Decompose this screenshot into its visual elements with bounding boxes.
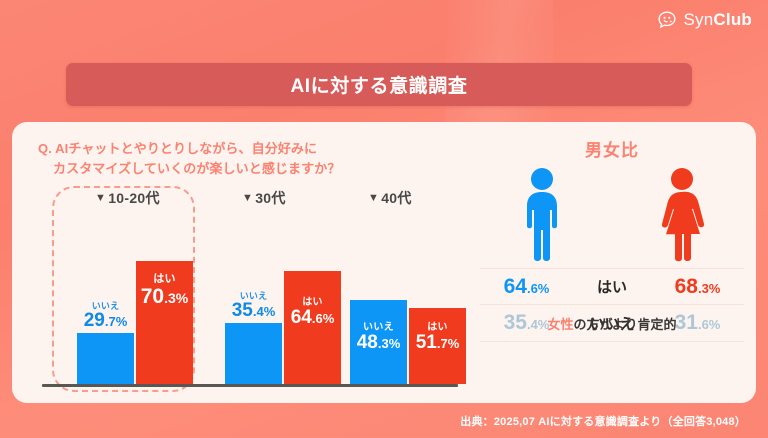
survey-chart-panel: Q. AIチャットとやりとりしながら、自分好みに カスタマイズしていくのが楽しい… (12, 122, 468, 403)
value-dec: .3% (698, 281, 720, 296)
gender-conclusion: 女性の方がより肯定的 (468, 314, 756, 333)
bar-value-dec: .3% (164, 290, 188, 306)
value-int: 68 (675, 275, 698, 298)
gender-section-title: 男女比 (468, 136, 756, 161)
logo-text-light: Syn (684, 10, 714, 29)
synclub-logo[interactable]: SynClub (657, 10, 752, 30)
bar-yes-10-20[interactable]: はい 70.3% (136, 261, 193, 384)
bar-value-yes: 51.7% (416, 333, 460, 354)
bar-value-int: 70 (141, 285, 164, 308)
bar-value-dec: .6% (312, 311, 334, 326)
question-line-2: カスタマイズしていくのが楽しいと感じますか？ (38, 159, 458, 179)
gender-row-label-yes: はい (573, 276, 651, 297)
bar-value-dec: .7% (437, 336, 459, 351)
bar-value-int: 29 (84, 310, 105, 331)
question-line-1: Q. AIチャットとやりとりしながら、自分好みに (38, 141, 317, 156)
gender-figures (468, 166, 756, 262)
group-label-30: ▼30代 (242, 188, 286, 208)
footer: 出典：2025,07 AIに対する意識調査より（全回答3,048） (0, 403, 768, 438)
content-card: Q. AIチャットとやりとりしながら、自分好みに カスタマイズしていくのが楽しい… (12, 122, 756, 403)
caret-down-icon: ▼ (242, 192, 253, 204)
bar-value-int: 35 (232, 300, 253, 321)
conclusion-highlight: 女性 (547, 317, 573, 332)
conclusion-rest: の方がより肯定的 (573, 317, 676, 332)
gender-ratio-panel: 男女比 64.6% はい 68.3% 35. (468, 122, 756, 403)
question-text: Q. AIチャットとやりとりしながら、自分好みに カスタマイズしていくのが楽しい… (38, 139, 458, 179)
bar-label-yes-10-20: はい 70.3% (141, 273, 188, 308)
value-int: 64 (504, 275, 527, 298)
bar-yes-40[interactable]: はい 51.7% (409, 308, 466, 384)
chart-baseline-axis (42, 384, 458, 387)
bar-label-no-10-20: いいえ 29.7% (84, 302, 128, 333)
bar-value-yes: 64.6% (291, 308, 335, 329)
bar-value-yes: 70.3% (141, 285, 188, 308)
page-title: AIに対する意識調査 (290, 71, 467, 98)
gender-row-yes: 64.6% はい 68.3% (480, 268, 744, 305)
bar-yes-30[interactable]: はい 64.6% (284, 271, 341, 384)
bar-group-30: いいえ 35.4% はい 64.6% (225, 271, 341, 384)
bar-caption-yes: はい (141, 273, 188, 285)
bar-value-no: 29.7% (84, 311, 128, 331)
bar-label-yes-30: はい 64.6% (291, 297, 335, 329)
bar-value-int: 64 (291, 307, 312, 328)
caret-down-icon: ▼ (368, 192, 379, 204)
group-label-40: ▼40代 (368, 188, 412, 208)
logo-wordmark: SynClub (684, 10, 752, 30)
bar-value-int: 51 (416, 332, 437, 353)
bar-value-no: 35.4% (232, 301, 276, 321)
bar-label-yes-40: はい 51.7% (416, 322, 460, 354)
bar-value-dec: .7% (105, 314, 127, 329)
bar-value-dec: .4% (253, 304, 275, 319)
female-yes-value: 68.3% (651, 275, 744, 299)
bar-label-no-30: いいえ 35.4% (232, 292, 276, 323)
age-group-bar-chart: ▼10-20代 ▼30代 ▼40代 いいえ 29.7% はい 70.3% (38, 190, 458, 387)
male-yes-value: 64.6% (480, 275, 573, 299)
group-label-text: 40代 (381, 190, 411, 206)
title-banner: AIに対する意識調査 (66, 63, 692, 106)
caret-down-icon: ▼ (95, 192, 106, 204)
logo-text-bold: Club (713, 10, 752, 29)
bar-group-10-20: いいえ 29.7% はい 70.3% (77, 261, 193, 384)
male-figure-icon (514, 166, 570, 262)
group-label-text: 10-20代 (108, 190, 160, 206)
bar-value-no: 48.3% (357, 333, 401, 354)
female-figure-icon (654, 166, 710, 262)
bar-label-no-40: いいえ 48.3% (357, 322, 401, 354)
bar-group-40: いいえ 48.3% はい 51.7% (350, 300, 466, 384)
chat-face-icon (657, 10, 677, 30)
bar-value-dec: .3% (378, 336, 400, 351)
bar-no-10-20[interactable]: いいえ 29.7% (77, 333, 134, 384)
bar-no-30[interactable]: いいえ 35.4% (225, 323, 282, 384)
group-label-10-20: ▼10-20代 (95, 188, 160, 208)
source-note: 出典：2025,07 AIに対する意識調査より（全回答3,048） (460, 413, 746, 429)
value-dec: .6% (527, 281, 549, 296)
group-label-text: 30代 (255, 190, 285, 206)
bar-value-int: 48 (357, 332, 378, 353)
bar-no-40[interactable]: いいえ 48.3% (350, 300, 407, 384)
